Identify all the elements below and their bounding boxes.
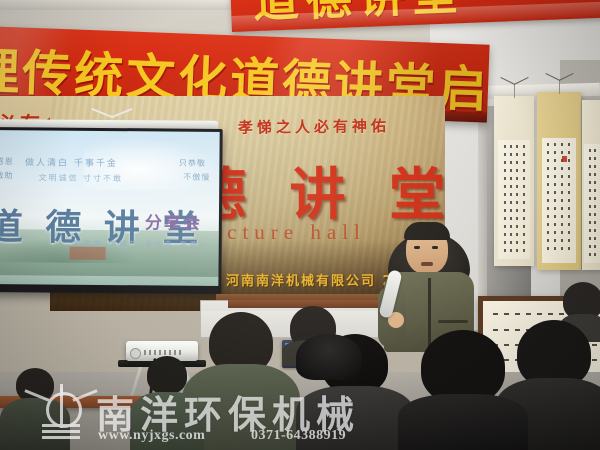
audience-member bbox=[130, 356, 204, 450]
photograph: 道德讲堂 理传统文化道德讲堂启动仪式 必有余庆 孝悌之人必有神佑 德 讲 堂 l… bbox=[0, 0, 600, 450]
backdrop-top-line: 孝悌之人必有神佑 bbox=[238, 115, 390, 138]
projection-screen-frame: 感恩 救助 做人清白 千事千金 文明诚信 寸寸不敢 只恭敬 不傲慢 道 德 讲 … bbox=[0, 127, 223, 294]
projection-screen: 感恩 救助 做人清白 千事千金 文明诚信 寸寸不敢 只恭敬 不傲慢 道 德 讲 … bbox=[0, 130, 220, 286]
backdrop-company-line: 河南南洋机械有限公司 20 bbox=[226, 270, 405, 289]
audience-beanie-hat bbox=[296, 334, 362, 380]
audience-member bbox=[398, 330, 528, 450]
screen-side-left-1: 感恩 bbox=[0, 156, 14, 167]
screen-side-right-2: 不傲慢 bbox=[183, 172, 210, 183]
screen-side-left-2: 救助 bbox=[0, 170, 14, 181]
speaker-person bbox=[386, 208, 472, 348]
screen-subtitle: 分享会 bbox=[145, 208, 202, 233]
calligraphy-scroll bbox=[494, 96, 534, 266]
screen-hanger-icon bbox=[95, 112, 131, 124]
audience-member bbox=[0, 368, 70, 450]
screen-side-right-1: 只恭敬 bbox=[179, 158, 206, 169]
calligraphy-scroll bbox=[537, 92, 581, 270]
calligraphy-scroll bbox=[582, 100, 600, 270]
screen-footer-text: 唱歌曲 学模范 诵经典 发善心 bbox=[74, 239, 210, 250]
screen-line-1: 做人清白 千事千金 bbox=[25, 155, 118, 169]
screen-line-2: 文明诚信 寸寸不敢 bbox=[38, 172, 123, 184]
